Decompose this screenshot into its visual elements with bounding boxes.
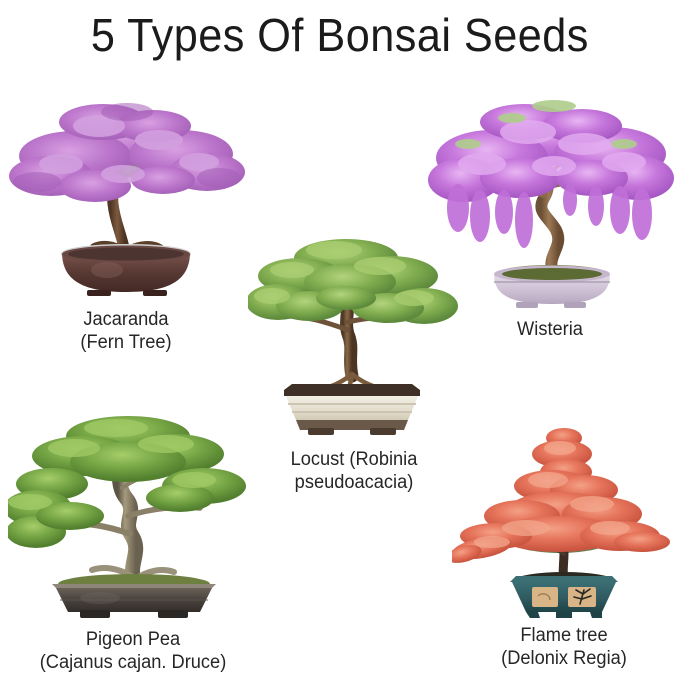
item-flame-tree: Flame tree (Delonix Regia) [452,424,676,676]
item-locust: Locust (Robinia pseudoacacia) [248,224,460,504]
pigeon-pea-caption: Pigeon Pea (Cajanus cajan. Druce) [13,628,253,674]
pigeon-pea-illustration [8,404,258,626]
jacaranda-caption: Jacaranda (Fern Tree) [8,308,244,354]
bonsai-infographic: 5 Types Of Bonsai Seeds [0,0,679,676]
locust-caption: Locust (Robinia pseudoacacia) [252,448,456,494]
flame-tree-illustration [452,424,676,620]
wisteria-illustration [424,88,676,316]
flame-tree-caption: Flame tree (Delonix Regia) [456,624,671,670]
pigeon-pea-photo [8,404,258,626]
item-jacaranda: Jacaranda (Fern Tree) [3,82,249,362]
wisteria-photo [424,88,676,316]
item-wisteria: Wisteria [424,88,676,348]
item-pigeon-pea: Pigeon Pea (Cajanus cajan. Druce) [8,404,258,676]
title-banner: 5 Types Of Bonsai Seeds [0,0,679,74]
page-title: 5 Types Of Bonsai Seeds [91,12,589,62]
jacaranda-photo [3,82,249,304]
wisteria-caption: Wisteria [429,318,671,341]
locust-illustration [248,224,460,442]
jacaranda-illustration [3,82,249,304]
locust-photo [248,224,460,442]
flame-tree-photo [452,424,676,620]
